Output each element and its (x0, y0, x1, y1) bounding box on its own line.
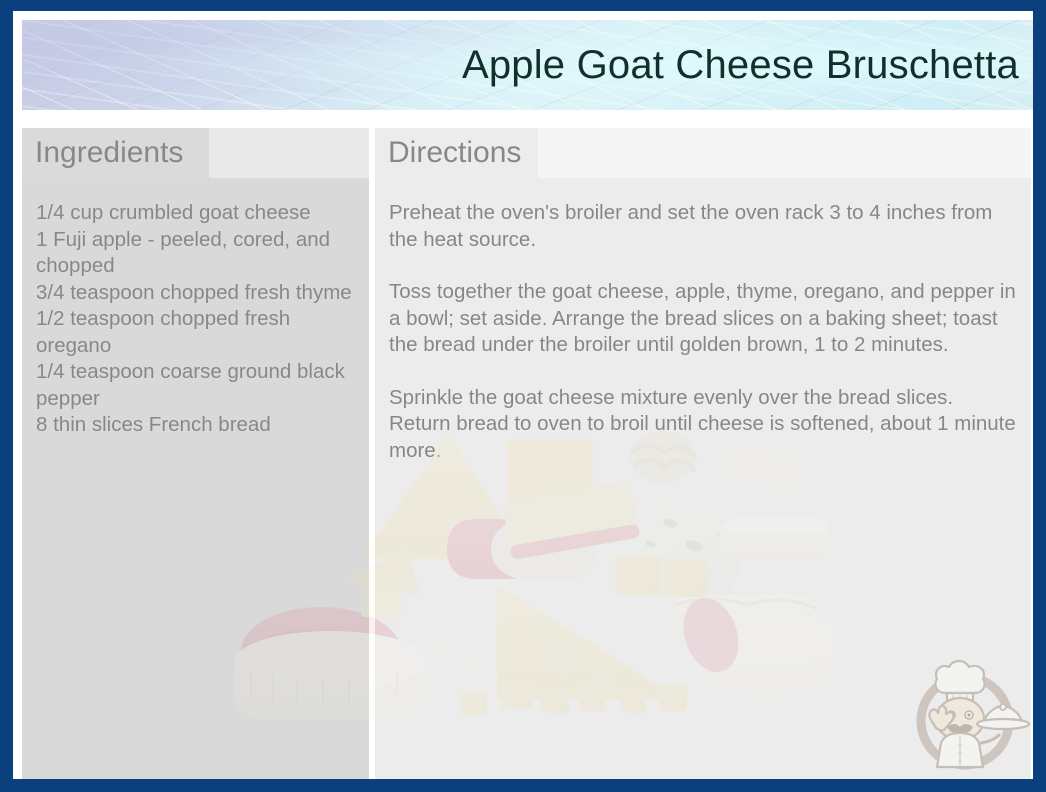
direction-step: Sprinkle the goat cheese mixture evenly … (389, 385, 1017, 465)
directions-tab[interactable]: Directions (375, 128, 538, 178)
title-banner: Apple Goat Cheese Bruschetta (22, 20, 1033, 110)
list-item: 1 Fuji apple - peeled, cored, and choppe… (36, 227, 355, 280)
directions-body: Preheat the oven's broiler and set the o… (375, 178, 1031, 779)
direction-step: Toss together the goat cheese, apple, th… (389, 279, 1017, 359)
ingredients-heading: Ingredients (35, 138, 183, 168)
ingredients-panel: Ingredients 1/4 cup crumbled goat cheese… (22, 128, 369, 779)
ingredient-list: 1/4 cup crumbled goat cheese 1 Fuji appl… (36, 200, 355, 439)
list-item: 3/4 teaspoon chopped fresh thyme (36, 280, 355, 307)
directions-heading: Directions (388, 138, 521, 168)
list-item: 8 thin slices French bread (36, 412, 355, 439)
ingredients-tab[interactable]: Ingredients (22, 128, 209, 178)
list-item: 1/4 teaspoon coarse ground black pepper (36, 359, 355, 412)
list-item: 1/2 teaspoon chopped fresh oregano (36, 306, 355, 359)
directions-panel: Directions Preheat the oven's broiler an… (375, 128, 1031, 779)
recipe-card: Apple Goat Cheese Bruschetta (0, 0, 1046, 792)
recipe-card-inner: Apple Goat Cheese Bruschetta (13, 11, 1033, 779)
direction-step: Preheat the oven's broiler and set the o… (389, 200, 1017, 253)
recipe-title: Apple Goat Cheese Bruschetta (462, 45, 1019, 85)
ingredients-body: 1/4 cup crumbled goat cheese 1 Fuji appl… (22, 178, 369, 779)
list-item: 1/4 cup crumbled goat cheese (36, 200, 355, 227)
